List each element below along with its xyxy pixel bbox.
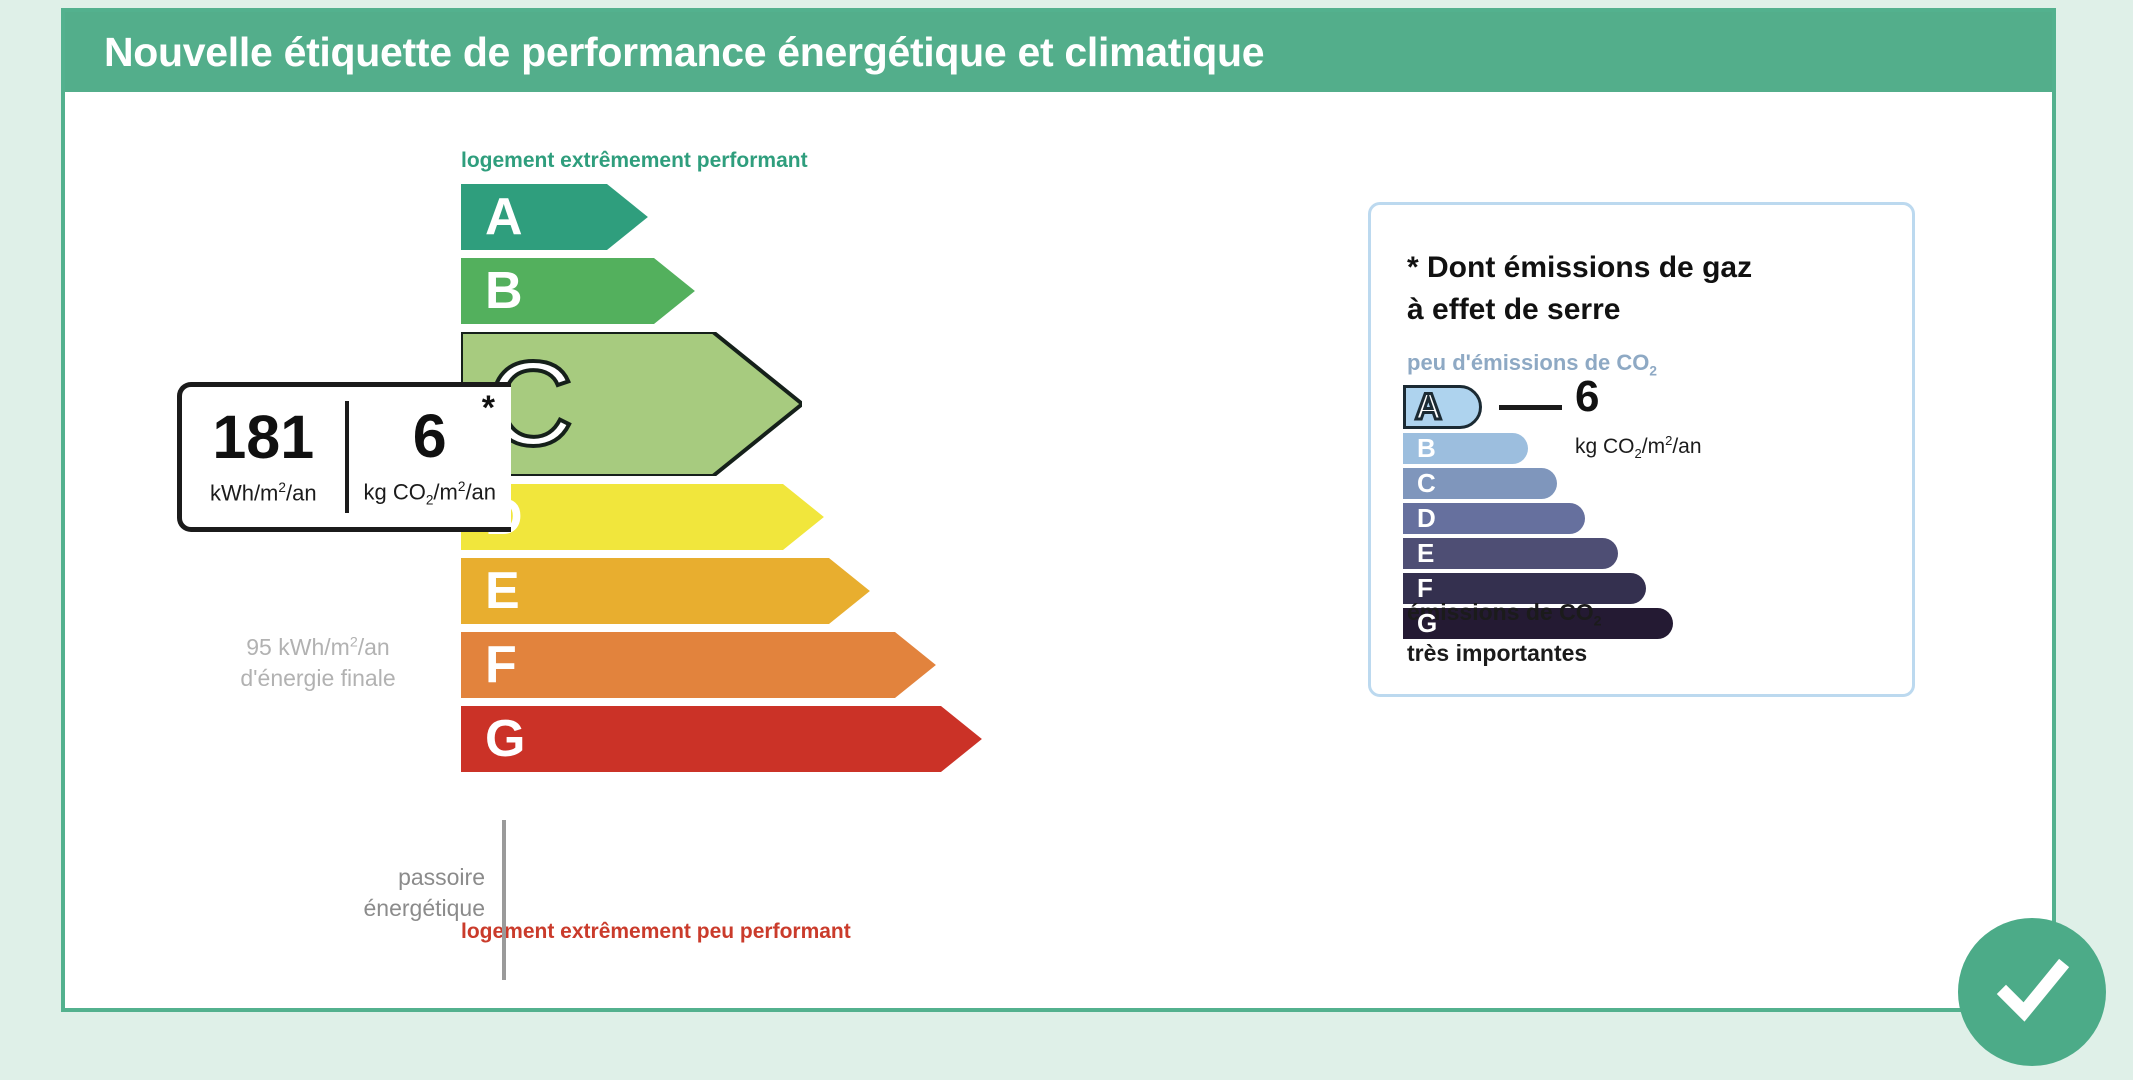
- passoire-divider: [502, 820, 506, 980]
- check-icon: [1984, 944, 2080, 1040]
- final-energy-label: d'énergie finale: [193, 665, 443, 692]
- footnote-asterisk: *: [482, 391, 495, 425]
- energy-bar-shape-g: [461, 706, 982, 772]
- emissions-unit: kg CO2/m2/an: [363, 479, 496, 508]
- energy-bar-shape-f: [461, 632, 936, 698]
- ges-title-line-1: * Dont émissions de gaz: [1407, 247, 1877, 289]
- page-root: Nouvelle étiquette de performance énergé…: [0, 0, 2133, 1080]
- card-body: logement extrêmement performant ABCDEFG …: [65, 92, 2052, 1012]
- passoire-label: passoire énergétique: [315, 862, 485, 924]
- emissions-cell: * 6 kg CO2/m2/an: [349, 387, 512, 527]
- ges-bar-e: E: [1403, 538, 1883, 569]
- dpe-watermark: DPE: [920, 827, 1156, 949]
- ges-panel: * Dont émissions de gaz à effet de serre…: [1368, 202, 1915, 697]
- ges-connector-line: [1499, 405, 1562, 410]
- energy-bar-b: B: [461, 258, 695, 324]
- consumption-value-box: 181 kWh/m2/an * 6 kg CO2/m2/an: [177, 382, 511, 532]
- dpe-card: Nouvelle étiquette de performance énergé…: [61, 8, 2056, 1012]
- energy-bar-g: G: [461, 706, 982, 772]
- ges-bar-letter-c: C: [1417, 468, 1436, 499]
- validation-badge[interactable]: [1958, 918, 2106, 1066]
- ges-bar-letter-f: F: [1417, 573, 1433, 604]
- energy-bar-letter-a: A: [485, 191, 523, 243]
- ges-value: 6: [1575, 375, 1599, 419]
- ges-bar-letter-e: E: [1417, 538, 1434, 569]
- energy-bar-letter-b: B: [485, 265, 523, 317]
- page-title: Nouvelle étiquette de performance énergé…: [104, 29, 1264, 76]
- ges-subtitle: peu d'émissions de CO2: [1407, 350, 1657, 378]
- ges-footer-line-1: émissions de CO2: [1407, 597, 1877, 638]
- energy-bar-letter-e: E: [485, 565, 520, 617]
- energy-bar-d: D: [461, 484, 824, 550]
- energy-bar-c: C: [461, 332, 802, 476]
- energy-bar-letter-f: F: [485, 639, 517, 691]
- energy-bar-shape-e: [461, 558, 870, 624]
- energy-scale: logement extrêmement performant ABCDEFG …: [65, 92, 1245, 1012]
- ges-bar-b: B: [1403, 433, 1883, 464]
- passoire-line-1: passoire: [315, 862, 485, 893]
- ges-bar-shape-e: [1403, 538, 1618, 569]
- primary-energy-value: 181: [212, 407, 314, 468]
- ges-bar-a: A6kg CO2/m2/an: [1403, 385, 1883, 429]
- ges-bar-letter-a: A: [1415, 385, 1442, 429]
- ges-footer-line-2: très importantes: [1407, 638, 1877, 669]
- ges-bar-c: C: [1403, 468, 1883, 499]
- energy-bar-f: F: [461, 632, 936, 698]
- energy-bar-a: A: [461, 184, 648, 250]
- energy-bar-letter-g: G: [485, 713, 525, 765]
- ges-title-line-2: à effet de serre: [1407, 289, 1877, 331]
- ges-bar-letter-b: B: [1417, 433, 1436, 464]
- emissions-value: 6: [413, 406, 447, 467]
- ges-bar-d: D: [1403, 503, 1883, 534]
- ges-title: * Dont émissions de gaz à effet de serre: [1407, 247, 1877, 331]
- ges-bar-letter-g: G: [1417, 608, 1437, 639]
- ges-footer: émissions de CO2 très importantes: [1407, 597, 1877, 669]
- energy-bottom-caption: logement extrêmement peu performant: [461, 920, 851, 944]
- card-header: Nouvelle étiquette de performance énergé…: [65, 12, 2052, 92]
- ges-bar-letter-d: D: [1417, 503, 1436, 534]
- passoire-line-2: énergétique: [315, 893, 485, 924]
- energy-bar-e: E: [461, 558, 870, 624]
- energy-top-caption: logement extrêmement performant: [461, 149, 808, 173]
- final-energy-value: 95 kWh/m2/an: [193, 634, 443, 661]
- primary-energy-unit: kWh/m2/an: [210, 480, 317, 506]
- primary-energy-cell: 181 kWh/m2/an: [182, 401, 349, 513]
